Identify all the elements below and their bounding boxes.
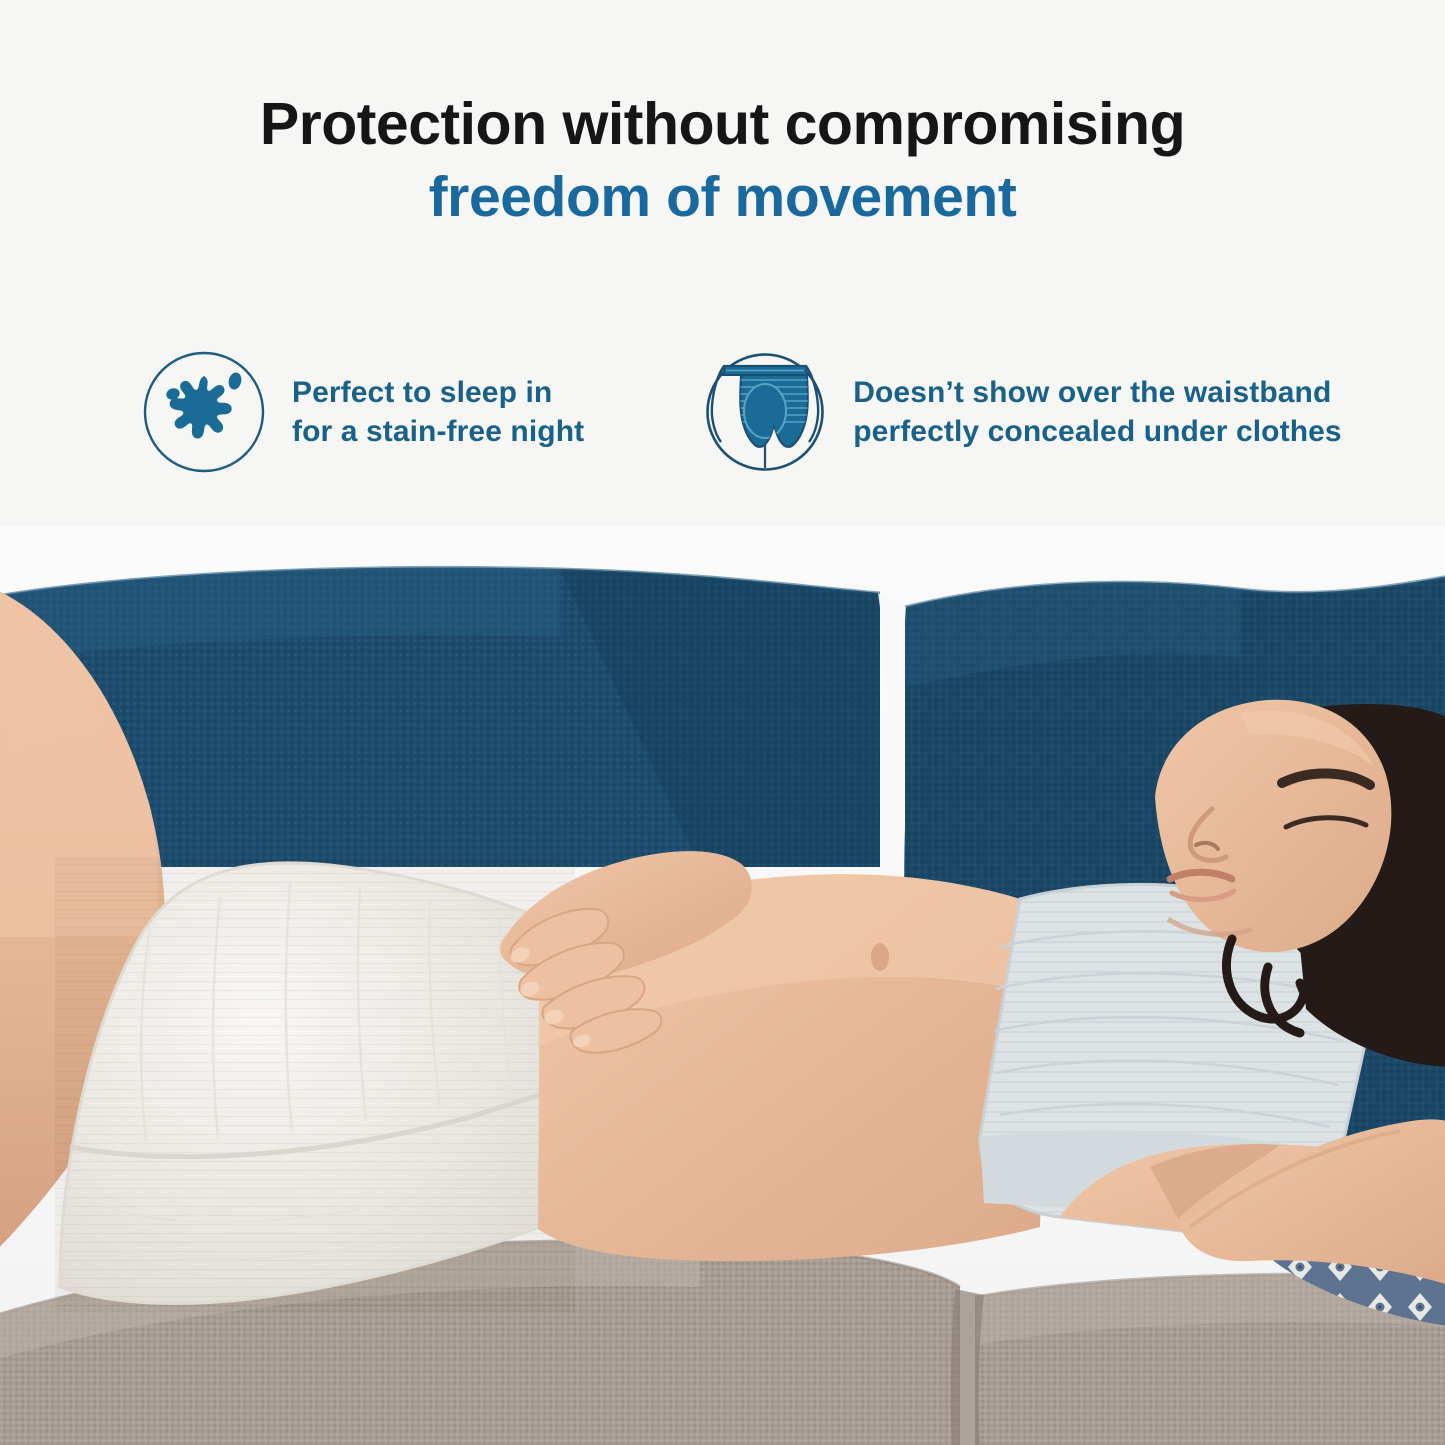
feature-text-discreet: Doesn’t show over the waistband perfectl… bbox=[853, 373, 1341, 451]
liquid-splash-icon bbox=[140, 348, 268, 476]
lifestyle-photo bbox=[0, 527, 1445, 1445]
feature-item-sleep: Perfect to sleep in for a stain-free nig… bbox=[140, 348, 584, 476]
feature-text-sleep-line-1: Perfect to sleep in bbox=[292, 373, 584, 412]
feature-row: Perfect to sleep in for a stain-free nig… bbox=[0, 337, 1445, 487]
feature-text-sleep-line-2: for a stain-free night bbox=[292, 412, 584, 451]
headline-line-2: freedom of movement bbox=[0, 160, 1445, 234]
marketing-poster: Protection without compromising freedom … bbox=[0, 0, 1445, 1445]
headline-block: Protection without compromising freedom … bbox=[0, 88, 1445, 234]
feature-text-sleep: Perfect to sleep in for a stain-free nig… bbox=[292, 373, 584, 451]
feature-text-discreet-line-1: Doesn’t show over the waistband bbox=[853, 373, 1341, 412]
absorbent-underwear-icon bbox=[701, 348, 829, 476]
headline-line-1: Protection without compromising bbox=[0, 88, 1445, 160]
feature-item-discreet: Doesn’t show over the waistband perfectl… bbox=[701, 348, 1341, 476]
feature-text-discreet-line-2: perfectly concealed under clothes bbox=[853, 412, 1341, 451]
